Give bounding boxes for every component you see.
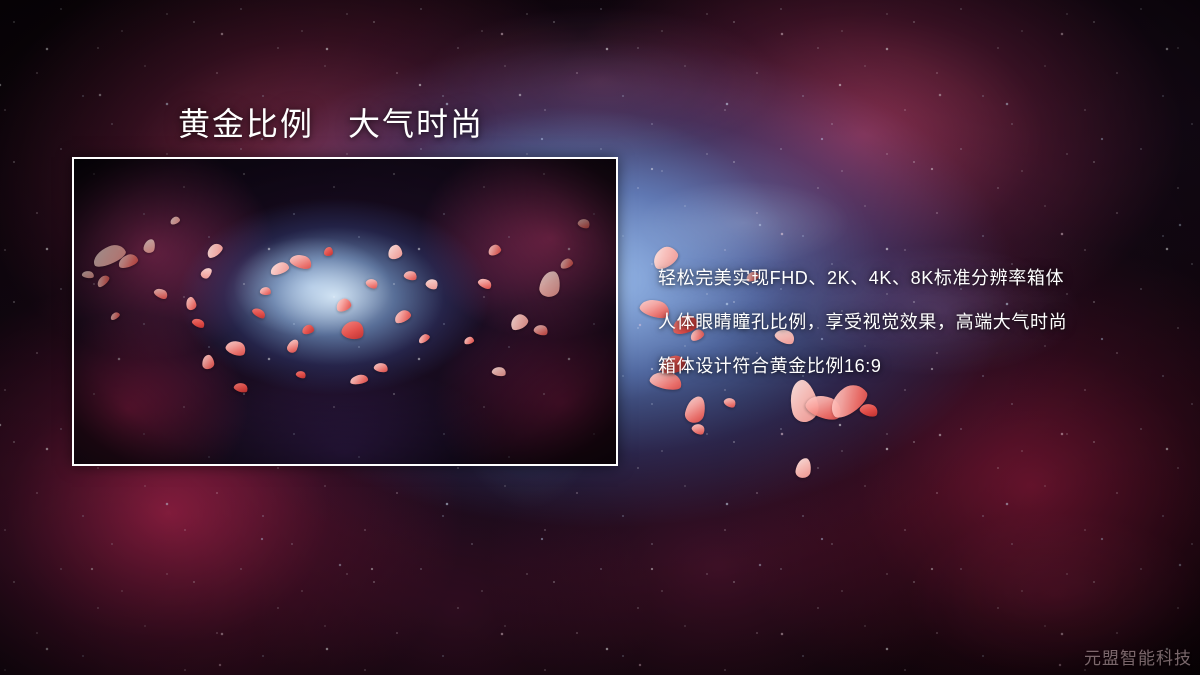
petal-shape xyxy=(690,421,706,436)
display-preview-content xyxy=(74,159,616,464)
watermark: 元盟智能科技 xyxy=(1084,644,1192,669)
page-title: 黄金比例 大气时尚 xyxy=(178,99,484,145)
petal-shape xyxy=(795,457,813,479)
body-line-1: 轻松完美实现FHD、2K、4K、8K标准分辨率箱体 xyxy=(658,256,1158,300)
petal-shape xyxy=(723,396,738,410)
slide-canvas: 黄金比例 大气时尚 轻松完美实现FHD、2K、4K、8K标准分辨率箱体 人体眼睛… xyxy=(0,0,1200,675)
preview-vignette xyxy=(74,159,616,464)
body-line-2: 人体眼睛瞳孔比例，享受视觉效果，高端大气时尚 xyxy=(658,300,1158,344)
body-text-block: 轻松完美实现FHD、2K、4K、8K标准分辨率箱体 人体眼睛瞳孔比例，享受视觉效… xyxy=(658,256,1158,388)
body-line-3: 箱体设计符合黄金比例16:9 xyxy=(658,344,1158,388)
display-preview-panel xyxy=(72,157,618,466)
petal-shape xyxy=(683,394,707,424)
